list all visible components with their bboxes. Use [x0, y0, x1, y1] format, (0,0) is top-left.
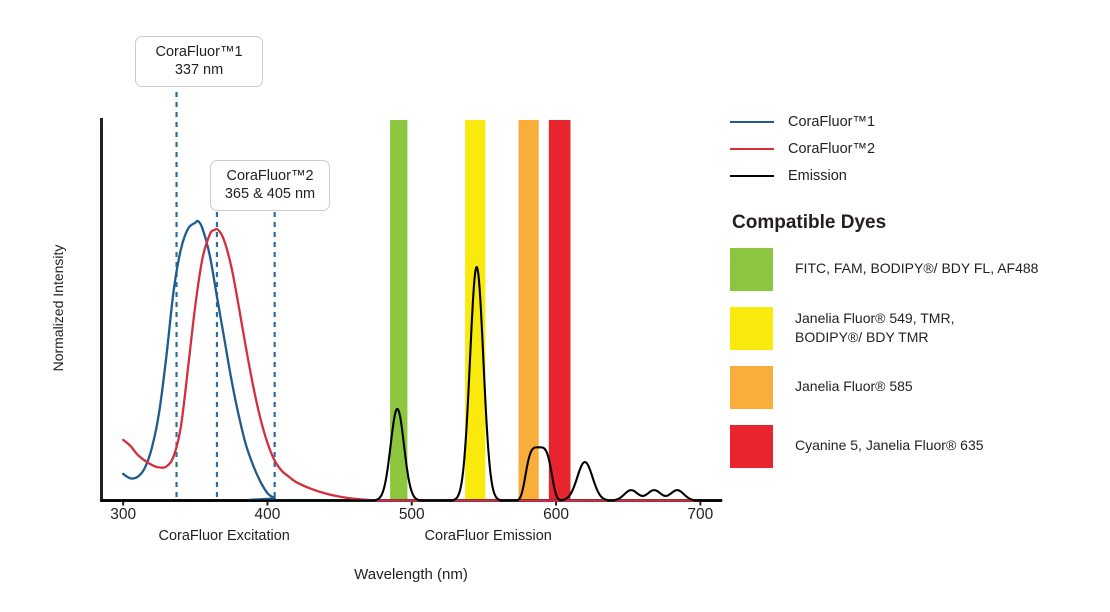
- section-label-excitation: CoraFluor Excitation: [124, 528, 324, 544]
- legend-item-CoraFluor1[interactable]: CoraFluor™1: [730, 108, 1100, 135]
- section-label-emission: CoraFluor Emission: [388, 528, 588, 544]
- x-tick-label-600: 600: [526, 506, 586, 524]
- curve-excitation-CoraFluor1: [123, 221, 700, 501]
- curve-emission: [102, 267, 722, 500]
- dye-label: FITC, FAM, BODIPY®/ BDY FL, AF488: [795, 248, 1038, 278]
- yellow-band: [465, 120, 485, 501]
- legend-line-swatch: [730, 121, 774, 123]
- red-band: [549, 120, 571, 501]
- spectra-figure: CoraFluor™1 337 nm CoraFluor™2 365 & 405…: [0, 0, 1110, 612]
- x-tick-label-700: 700: [670, 506, 730, 524]
- dye-label: Cyanine 5, Janelia Fluor® 635: [795, 425, 984, 455]
- dye-color-swatch: [730, 366, 773, 409]
- callout-corafluor2-line2: 365 & 405 nm: [221, 185, 319, 203]
- legend-item-CoraFluor2[interactable]: CoraFluor™2: [730, 135, 1100, 162]
- legend-line-label: CoraFluor™1: [788, 114, 875, 130]
- x-tick-label-400: 400: [237, 506, 297, 524]
- legend-line-label: CoraFluor™2: [788, 141, 875, 157]
- dye-label: Janelia Fluor® 585: [795, 366, 913, 396]
- callout-corafluor2-line1: CoraFluor™2: [221, 167, 319, 185]
- legend-line-swatch: [730, 175, 774, 177]
- x-tick-label-300: 300: [93, 506, 153, 524]
- dye-row[interactable]: FITC, FAM, BODIPY®/ BDY FL, AF488: [730, 248, 1100, 291]
- legend-series-list: CoraFluor™1CoraFluor™2Emission: [730, 108, 1100, 189]
- x-axis-title: Wavelength (nm): [0, 566, 822, 583]
- callout-corafluor1: CoraFluor™1 337 nm: [135, 36, 263, 87]
- dye-row[interactable]: Janelia Fluor® 549, TMR, BODIPY®/ BDY TM…: [730, 307, 1100, 350]
- curve-excitation-CoraFluor2: [123, 229, 700, 500]
- callout-corafluor1-line2: 337 nm: [146, 61, 252, 79]
- dye-color-swatch: [730, 248, 773, 291]
- dye-color-swatch: [730, 307, 773, 350]
- y-axis-title: Normalized Intensity: [50, 228, 66, 388]
- legend-line-label: Emission: [788, 168, 847, 184]
- spectra-curves: [102, 221, 722, 501]
- callout-corafluor2: CoraFluor™2 365 & 405 nm: [210, 160, 330, 211]
- dye-row[interactable]: Cyanine 5, Janelia Fluor® 635: [730, 425, 1100, 468]
- x-tick-label-500: 500: [382, 506, 442, 524]
- dye-label: Janelia Fluor® 549, TMR, BODIPY®/ BDY TM…: [795, 307, 954, 347]
- legend: CoraFluor™1CoraFluor™2Emission Compatibl…: [730, 108, 1100, 484]
- compatible-dyes-title: Compatible Dyes: [732, 212, 1100, 234]
- callout-corafluor1-line1: CoraFluor™1: [146, 43, 252, 61]
- compatible-dyes-list: FITC, FAM, BODIPY®/ BDY FL, AF488Janelia…: [730, 248, 1100, 468]
- excitation-marker-group: [177, 92, 275, 501]
- orange-band: [519, 120, 539, 501]
- dye-color-swatch: [730, 425, 773, 468]
- dye-row[interactable]: Janelia Fluor® 585: [730, 366, 1100, 409]
- legend-item-Emission[interactable]: Emission: [730, 162, 1100, 189]
- legend-line-swatch: [730, 148, 774, 150]
